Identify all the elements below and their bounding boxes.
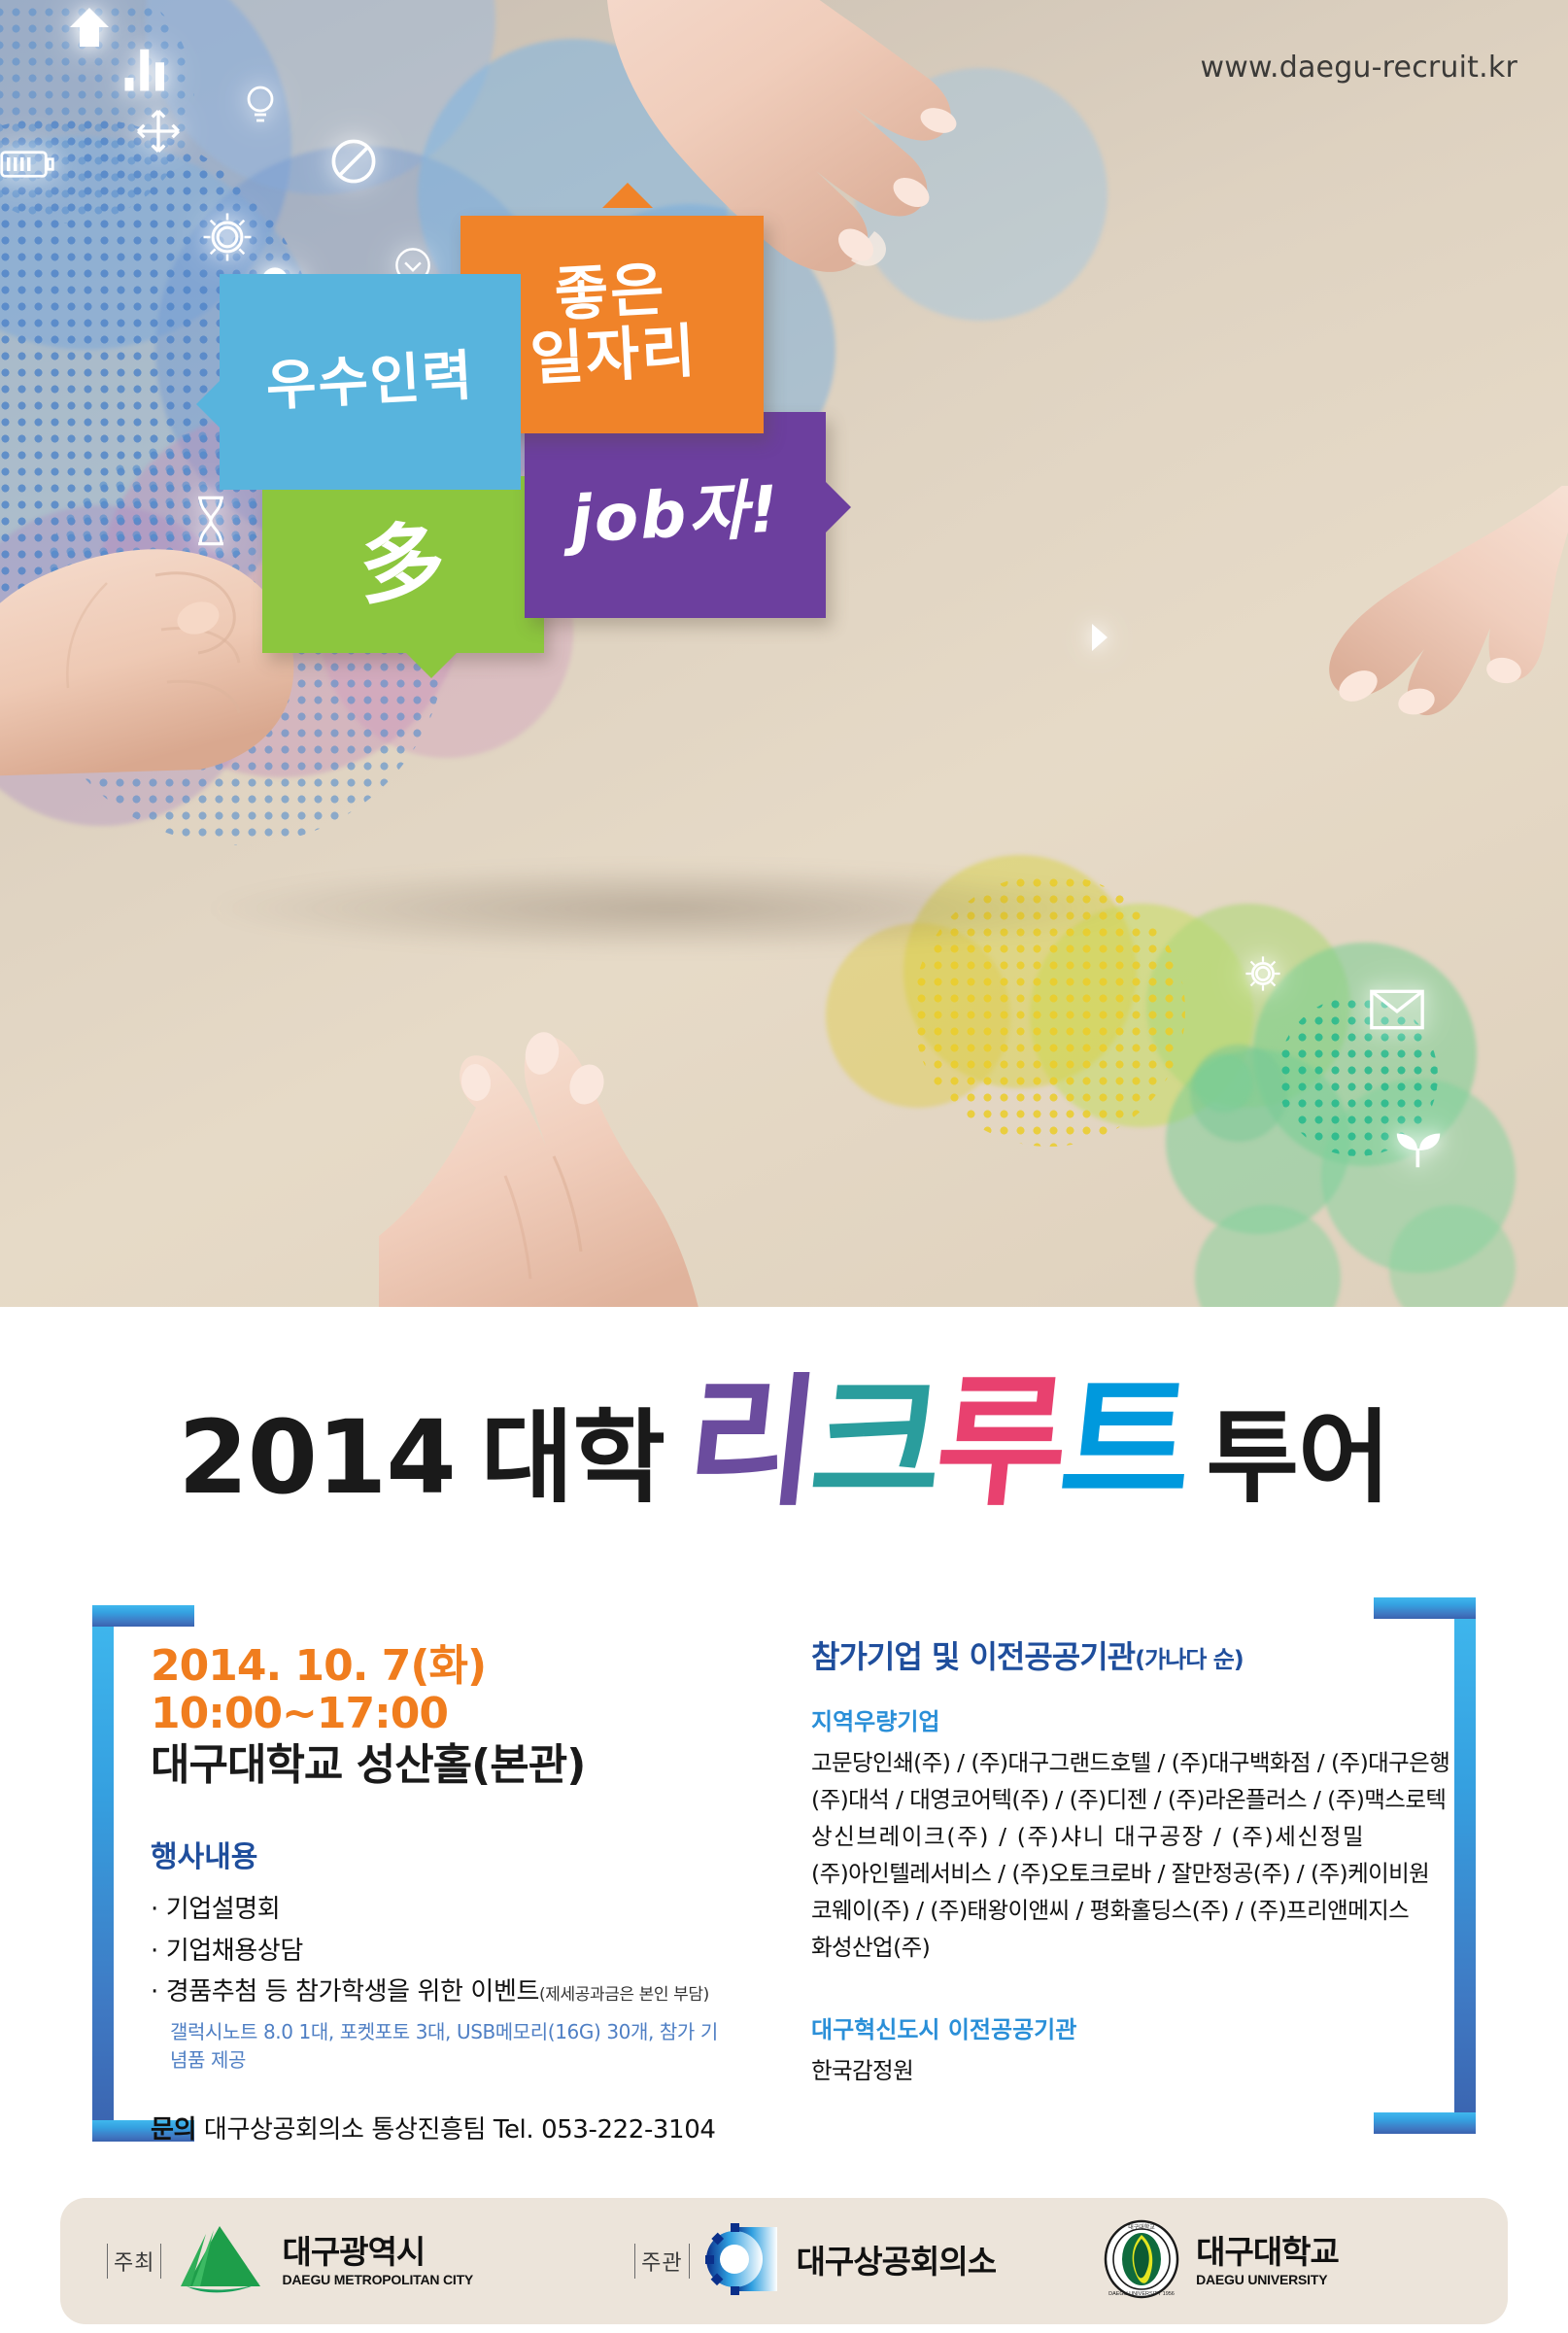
participants-column: 참가기업 및 이전공공기관(가나다 순) 지역우량기업 고문당인쇄(주) / (…: [811, 1632, 1414, 2085]
list-item: 고문당인쇄(주) / (주)대구그랜드호텔 / (주)대구백화점 / (주)대구…: [811, 1744, 1414, 1781]
gear-icon: [200, 210, 255, 269]
org-name-ko: 대구상공회의소: [797, 2246, 997, 2278]
speech-bubble-blue: 우수인력: [220, 274, 521, 490]
chamber-gear-logo: [705, 2223, 781, 2300]
title-suffix: 투어: [1206, 1407, 1389, 1508]
participants-heading-note: (가나다 순): [1135, 1646, 1244, 1673]
logo-char-4: 트: [1055, 1378, 1193, 1508]
university-name: 대구대학교 DAEGU UNIVERSITY: [1196, 2236, 1339, 2286]
bubble-text-purple: job자!: [520, 404, 832, 626]
speech-bubble-purple: job자!: [525, 412, 826, 618]
organizer-group: 주관 대구상공회의소: [634, 2223, 996, 2300]
list-item: (주)아인텔레서비스 / (주)오토크로바 / 잘만정공(주) / (주)케이비…: [811, 1855, 1414, 1892]
list-item: · 기업채용상담: [151, 1931, 733, 1972]
svg-text:DAEGU UNIVERSITY 1956: DAEGU UNIVERSITY 1956: [1108, 2291, 1175, 2297]
bubble-text-green: 多: [257, 469, 548, 661]
contact-label: 문의: [151, 2115, 196, 2144]
svg-text:DAEGU: DAEGU: [206, 2275, 252, 2289]
group1-label: 지역우량기업: [811, 1702, 1414, 1736]
list-item: (주)대석 / 대영코어텍(주) / (주)디젠 / (주)라온플러스 / (주…: [811, 1781, 1414, 1818]
list-item: 코웨이(주) / (주)태왕이앤씨 / 평화홀딩스(주) / (주)프리앤메지스: [811, 1892, 1414, 1929]
hand-right-reaching: [1253, 486, 1568, 738]
event-venue: 대구대학교 성산홀(본관): [151, 1740, 733, 1791]
arrow-up-icon: [66, 2, 113, 57]
university-group: 대구대학교 DAEGU UNIVERSITY 1956 대구대학교 DAEGU …: [1103, 2219, 1339, 2304]
bullet-note: (제세공과금은 본인 부담): [539, 1985, 709, 2005]
bullet-text: · 기업설명회: [151, 1895, 280, 1924]
list-item: · 기업설명회: [151, 1889, 733, 1930]
prize-note: 갤럭시노트 8.0 1대, 포켓포토 3대, USB메모리(16G) 30개, …: [170, 2016, 733, 2073]
hand-bottom-open: [379, 991, 826, 1307]
contact-text: 대구상공회의소 통상진흥팀 Tel. 053-222-3104: [204, 2115, 716, 2144]
contact-line: 문의 대구상공회의소 통상진흥팀 Tel. 053-222-3104: [151, 2110, 733, 2145]
list-item: 화성산업(주): [811, 1929, 1414, 1966]
bullet-text: · 경품추첨 등 참가학생을 위한 이벤트: [151, 1977, 539, 2007]
decor-blob: [1195, 1054, 1253, 1113]
title-logo: 리크루트: [681, 1378, 1193, 1508]
envelope-icon: [1370, 989, 1424, 1035]
title-prefix: 대학: [481, 1407, 665, 1508]
lightbulb-icon: [237, 80, 284, 135]
move-arrows-icon: [134, 107, 183, 160]
event-details-column: 2014. 10. 7(화) 10:00~17:00 대구대학교 성산홀(본관)…: [151, 1642, 733, 2145]
gear-green-icon: [1242, 952, 1284, 1000]
host-group: 주최 DAEGU 대구광역시 DAEGU METROPOLITAN CITY: [107, 2222, 473, 2301]
organizer-label: 주관: [634, 2244, 689, 2279]
title-year: 2014: [178, 1407, 455, 1508]
logo-char-3: 루: [931, 1378, 1069, 1508]
poster-title: 2014 대학 리크루트 투어: [0, 1353, 1568, 1508]
info-panel: 2014. 10. 7(화) 10:00~17:00 대구대학교 성산홀(본관)…: [0, 1605, 1568, 2159]
program-heading: 행사내용: [151, 1833, 733, 1875]
participants-heading-main: 참가기업 및 이전공공기관: [811, 1638, 1135, 1675]
host-label: 주최: [107, 2244, 161, 2279]
svg-text:대구대학교: 대구대학교: [1128, 2223, 1155, 2231]
chamber-name: 대구상공회의소: [797, 2246, 997, 2278]
speech-bubble-green: 多: [262, 476, 544, 653]
daegu-city-name: 대구광역시 DAEGU METROPOLITAN CITY: [282, 2236, 473, 2286]
sprout-icon: [1391, 1123, 1448, 1175]
website-url[interactable]: www.daegu-recruit.kr: [1201, 51, 1517, 85]
battery-icon: [0, 148, 54, 186]
participants-heading: 참가기업 및 이전공공기관(가나다 순): [811, 1632, 1414, 1677]
bubble-shadow: [214, 865, 1127, 952]
group2-label: 대구혁신도시 이전공공기관: [811, 2010, 1414, 2044]
bubble-text-blue: 우수인력: [214, 266, 526, 497]
list-item: · 경품추첨 등 참가학생을 위한 이벤트(제세공과금은 본인 부담): [151, 1972, 733, 2012]
org-name-ko: 대구대학교: [1196, 2236, 1339, 2268]
logo-char-2: 크: [805, 1378, 943, 1508]
list-item: 상신브레이크(주) / (주)샤니 대구공장 / (주)세신정밀: [811, 1818, 1414, 1855]
org-name-ko: 대구광역시: [282, 2236, 473, 2268]
list-item: 한국감정원: [811, 2052, 1414, 2085]
program-list: · 기업설명회 · 기업채용상담 · 경품추첨 등 참가학생을 위한 이벤트(제…: [151, 1889, 733, 2072]
logo-char-1: 리: [681, 1378, 819, 1508]
group1-list: 고문당인쇄(주) / (주)대구그랜드호텔 / (주)대구백화점 / (주)대구…: [811, 1744, 1414, 1966]
no-entry-icon: [328, 136, 379, 191]
play-arrow-icon: [1065, 618, 1111, 662]
daegu-university-seal: 대구대학교 DAEGU UNIVERSITY 1956: [1103, 2219, 1180, 2304]
bar-chart-icon: [120, 43, 173, 100]
bullet-text: · 기업채용상담: [151, 1937, 303, 1966]
hero-image: 多 job자! 좋은 일자리 우수인력 www.daegu-recruit.kr: [0, 0, 1568, 1307]
org-name-en: DAEGU METROPOLITAN CITY: [282, 2273, 473, 2286]
org-name-en: DAEGU UNIVERSITY: [1196, 2273, 1339, 2286]
sponsor-footer: 주최 DAEGU 대구광역시 DAEGU METROPOLITAN CITY 주…: [60, 2198, 1508, 2324]
daegu-mountain-logo: DAEGU: [177, 2222, 266, 2301]
event-date: 2014. 10. 7(화) 10:00~17:00: [151, 1642, 733, 1738]
